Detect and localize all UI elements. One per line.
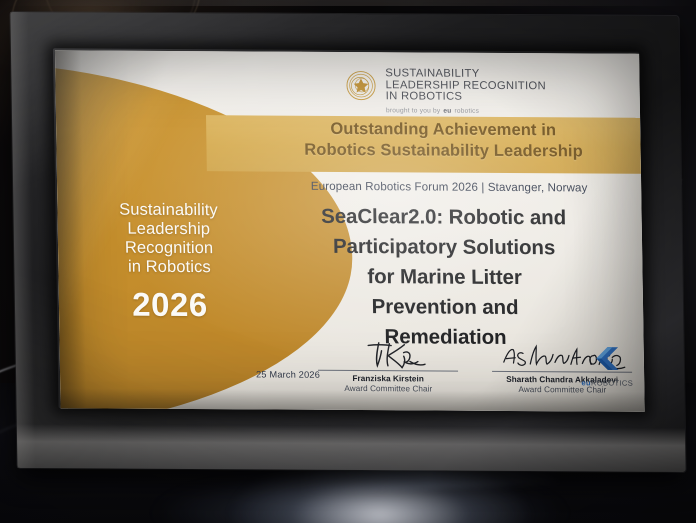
award-title: SeaClear2.0: Robotic and Participatory S… (253, 201, 635, 353)
award-band-text: Outstanding Achievement in Robotics Sust… (256, 118, 631, 162)
signatory-role-first: Award Committee Chair (314, 384, 462, 395)
signature-rule-first (318, 370, 458, 372)
brought-by-brand-prefix: eu (443, 107, 451, 114)
frame-glazing: Sustainability Leadership Recognition in… (55, 50, 645, 412)
eurobotics-brand-prefix: eu (581, 378, 591, 387)
picture-frame-wrapper: Sustainability Leadership Recognition in… (10, 12, 685, 472)
certificate-wordmark: SUSTAINABILITY LEADERSHIP RECOGNITION IN… (385, 68, 546, 115)
side-panel-text: Sustainability Leadership Recognition in… (63, 200, 275, 324)
brought-by-text: brought to you by (386, 107, 440, 114)
ceiling-edge-gloss (0, 0, 696, 6)
award-band-line-2: Robotics Sustainability Leadership (256, 139, 630, 162)
side-panel-line-1: Sustainability (63, 200, 273, 220)
sustainability-star-emblem-icon (345, 70, 376, 101)
certificate-sheet: Sustainability Leadership Recognition in… (55, 50, 645, 412)
photo-scene: Power Sustainability Leadership (0, 0, 696, 523)
frame-bottom-lip (17, 424, 686, 472)
picture-frame: Sustainability Leadership Recognition in… (10, 12, 685, 472)
eurobotics-logo: euROBOTICS (574, 345, 641, 387)
wordmark-line-3: IN ROBOTICS (386, 91, 547, 104)
eurobotics-wordmark: euROBOTICS (574, 378, 640, 387)
award-title-line-1: SeaClear2.0: Robotic and (253, 201, 634, 233)
side-panel-line-2: Leadership (64, 219, 274, 239)
signature-mark-kirstein-icon (318, 340, 459, 371)
award-title-line-3: for Marine Litter (254, 261, 635, 293)
brought-to-you-by: brought to you by eu robotics (386, 107, 547, 115)
award-title-line-2: Participatory Solutions (254, 231, 635, 263)
side-panel-line-3: Recognition (64, 238, 274, 258)
event-line: European Robotics Forum 2026 | Stavanger… (263, 179, 635, 194)
signature-block-first: Franziska Kirstein Award Committee Chair (314, 340, 463, 395)
award-title-line-4: Prevention and (255, 291, 636, 323)
certificate-header: SUSTAINABILITY LEADERSHIP RECOGNITION IN… (345, 68, 546, 115)
side-panel-line-4: in Robotics (64, 257, 274, 277)
side-panel-year: 2026 (65, 285, 276, 324)
brought-by-brand-suffix: robotics (454, 107, 479, 114)
award-band-line-1: Outstanding Achievement in (256, 118, 630, 141)
issue-date: 25 March 2026 (256, 369, 320, 379)
eurobotics-brand-suffix: ROBOTICS (591, 378, 633, 387)
eurobotics-logo-icon (593, 345, 621, 371)
